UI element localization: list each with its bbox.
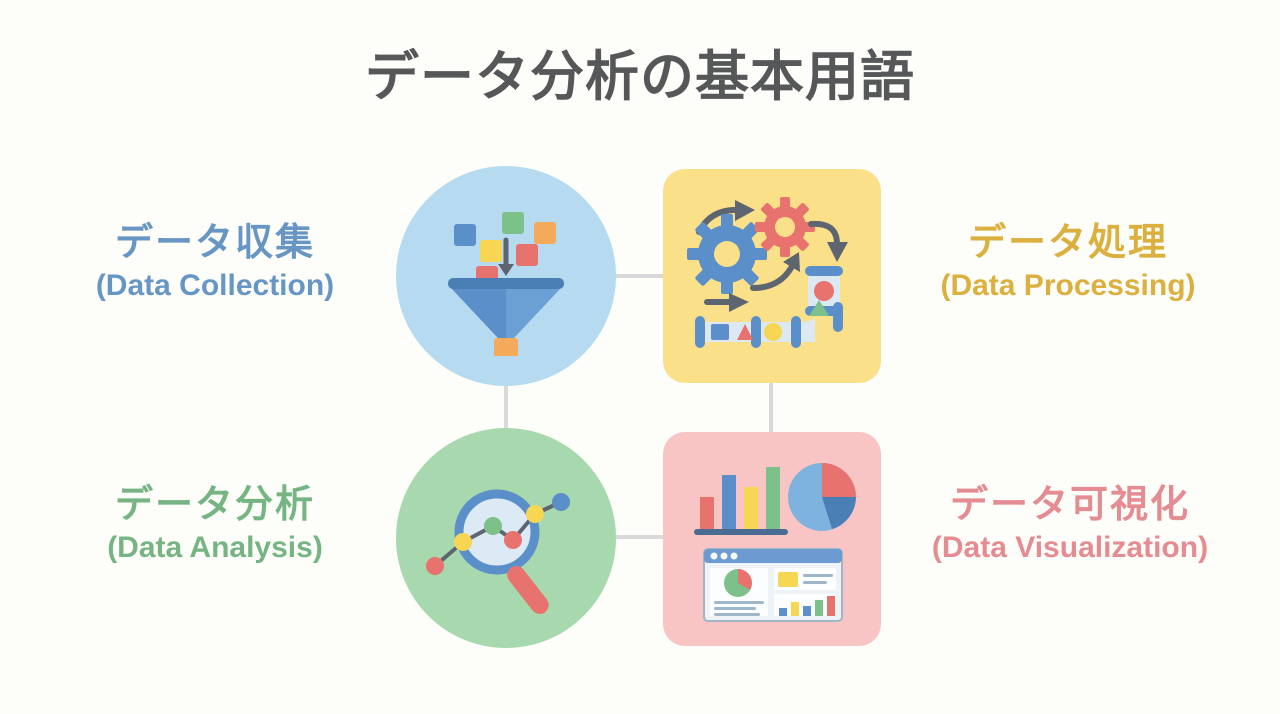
label-data-processing: データ処理 (Data Processing) bbox=[893, 222, 1243, 302]
funnel-icon bbox=[426, 196, 586, 356]
label-data-collection: データ収集 (Data Collection) bbox=[40, 222, 390, 302]
magnifier-linechart-icon bbox=[421, 458, 591, 618]
label-jp-analysis: データ分析 bbox=[40, 484, 390, 527]
label-en-processing: (Data Processing) bbox=[893, 269, 1243, 303]
node-data-processing[interactable] bbox=[663, 169, 881, 383]
node-data-analysis[interactable] bbox=[396, 428, 616, 648]
label-jp-collection: データ収集 bbox=[40, 222, 390, 265]
label-data-analysis: データ分析 (Data Analysis) bbox=[40, 484, 390, 564]
slide-canvas: データ分析の基本用語 bbox=[0, 0, 1280, 714]
label-data-visualization: データ可視化 (Data Visualization) bbox=[890, 484, 1250, 564]
page-title: データ分析の基本用語 bbox=[0, 48, 1280, 107]
node-data-visualization[interactable] bbox=[663, 432, 881, 646]
label-en-collection: (Data Collection) bbox=[40, 269, 390, 303]
gears-pipeline-icon bbox=[687, 192, 857, 360]
label-en-analysis: (Data Analysis) bbox=[40, 531, 390, 565]
connector-processing-visualization bbox=[769, 376, 773, 436]
charts-dashboard-icon bbox=[686, 453, 858, 625]
label-jp-visualization: データ可視化 bbox=[890, 484, 1250, 527]
label-jp-processing: データ処理 bbox=[893, 222, 1243, 265]
label-en-visualization: (Data Visualization) bbox=[890, 531, 1250, 565]
node-data-collection[interactable] bbox=[396, 166, 616, 386]
